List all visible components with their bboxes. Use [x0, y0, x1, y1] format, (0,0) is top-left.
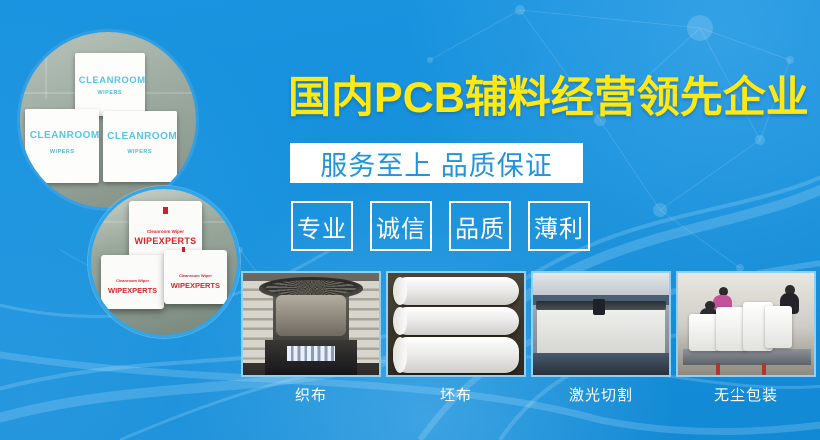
wipes-package-left: CLEANROOM WIPERS — [25, 109, 99, 183]
wipes-package-back: CLEANROOM WIPERS — [75, 53, 145, 116]
thumbnail-item-greige: 坯布 — [386, 271, 526, 405]
fabric-roll-top — [393, 277, 518, 305]
machine-frame — [533, 353, 669, 375]
banner-subtitle-text: 服务至上 品质保证 — [320, 144, 553, 183]
thumbnail-image-greige — [386, 271, 526, 377]
fabric-roll-bottom — [393, 337, 518, 373]
thumbnail-caption-laser: 激光切割 — [531, 384, 671, 405]
package-sub-right: WIPERS — [107, 149, 172, 155]
package-sub-back: WIPERS — [79, 90, 141, 96]
thumbnail-caption-packing: 无尘包装 — [676, 384, 816, 405]
package-brand-right: CLEANROOM — [107, 131, 172, 142]
knitting-cylinder — [276, 295, 347, 336]
wipexperts-sub-top: Cleanroom Wiper — [132, 229, 199, 234]
wipexperts-brand-left: WIPEXPERTS — [104, 286, 162, 295]
wipexperts-scene: Cleanroom Wiper WIPEXPERTS Cleanroom Wip… — [91, 189, 237, 335]
promo-banner: CLEANROOM WIPERS CLEANROOM WIPERS CLEANR… — [0, 0, 820, 440]
fabric-roll-mid — [393, 307, 518, 336]
wipexperts-box-right: Cleanroom Wiper WIPEXPERTS — [164, 250, 227, 304]
keyword-box-4: 薄利 — [528, 201, 590, 251]
keyword-box-3: 品质 — [449, 201, 511, 251]
thumbnail-image-weaving — [241, 271, 381, 377]
keyword-box-1: 专业 — [291, 201, 353, 251]
cleanroom-scene: CLEANROOM WIPERS CLEANROOM WIPERS CLEANR… — [20, 32, 196, 208]
wipes-package-right: CLEANROOM WIPERS — [103, 111, 177, 181]
thumbnail-caption-weaving: 织布 — [241, 384, 381, 405]
thumbnail-image-laser — [531, 271, 671, 377]
packing-table — [683, 349, 811, 365]
thumbnail-item-packing: 无尘包装 — [676, 271, 816, 405]
package-brand-back: CLEANROOM — [79, 75, 141, 86]
roll-end-cap — [393, 277, 407, 305]
banner-headline: 国内PCB辅料经营领先企业 — [288, 74, 809, 122]
wipexperts-sub-right: Cleanroom Wiper — [167, 273, 225, 278]
red-seal-right — [182, 247, 186, 252]
wipexperts-brand-right: WIPEXPERTS — [167, 281, 225, 290]
photo-cleanroom-wipes: CLEANROOM WIPERS CLEANROOM WIPERS CLEANR… — [20, 32, 196, 208]
package-sub-left: WIPERS — [30, 149, 95, 155]
roll-end-cap-2 — [393, 307, 407, 336]
process-thumbnail-strip: 织布 坯布 — [241, 271, 816, 405]
banner-subtitle-bar: 服务至上 品质保证 — [290, 143, 583, 183]
thumbnail-caption-greige: 坯布 — [386, 384, 526, 405]
red-seal-top — [163, 207, 168, 214]
keyword-list: 专业 诚信 品质 薄利 — [291, 201, 590, 251]
wipexperts-brand-top: WIPEXPERTS — [132, 236, 199, 246]
thumbnail-image-packing — [676, 271, 816, 377]
thumbnail-item-weaving: 织布 — [241, 271, 381, 405]
wipexperts-box-left: Cleanroom Wiper WIPEXPERTS — [101, 255, 164, 309]
package-brand-left: CLEANROOM — [30, 130, 95, 141]
laser-head — [593, 299, 605, 315]
floor-seam-2 — [45, 32, 47, 99]
package-stack-1 — [689, 314, 719, 351]
package-stack-4 — [765, 306, 792, 349]
table-leg-1 — [716, 363, 720, 375]
thumbnail-item-laser: 激光切割 — [531, 271, 671, 405]
roll-end-cap-3 — [393, 337, 407, 373]
fabric-output — [287, 346, 336, 360]
wipexperts-sub-left: Cleanroom Wiper — [104, 278, 162, 283]
table-leg-2 — [762, 363, 766, 375]
keyword-box-2: 诚信 — [370, 201, 432, 251]
photo-wipexperts: Cleanroom Wiper WIPEXPERTS Cleanroom Wip… — [88, 186, 240, 338]
